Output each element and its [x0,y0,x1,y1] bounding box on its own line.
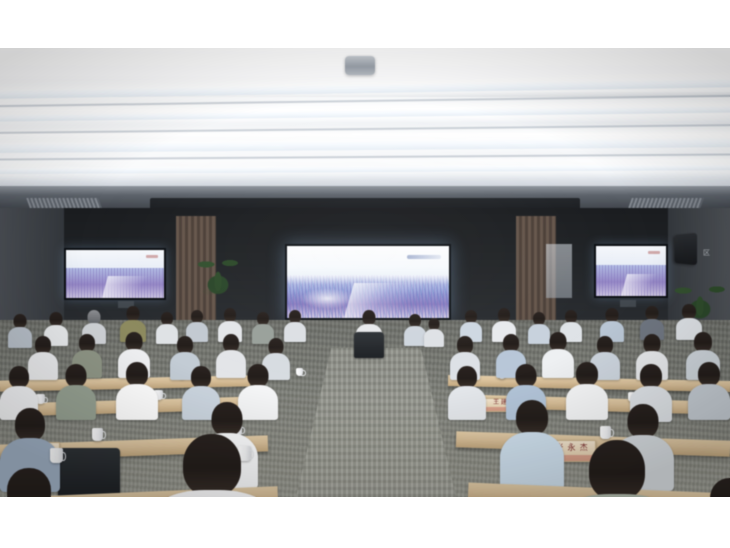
display-highway [621,274,666,297]
attendee-head [50,312,63,326]
attendee-head [576,362,598,386]
potted-plant [198,244,238,312]
attendee [404,314,426,344]
attendee-head [516,400,548,435]
right-led-display[interactable] [594,244,668,298]
air-vent-grille [628,198,704,208]
attendee-torso [556,494,678,497]
mug [296,368,303,376]
attendee-head [212,402,243,436]
attendee-head [14,314,27,328]
attendee [556,440,678,497]
attendee-head [183,434,241,496]
wall-marking-label: 区 [703,248,711,258]
attendee-head [248,364,269,387]
attendee [500,400,564,486]
attendee [0,468,96,497]
wall-id-plate [620,300,636,307]
attendee-head [698,362,720,386]
display-watermark-icon [407,255,441,259]
attendee-head [224,308,236,322]
display-watermark-icon [146,255,158,258]
attendee-head [126,362,148,386]
mug [600,426,611,439]
air-vent-grille [26,198,102,208]
attendee-torso [448,386,486,420]
display-watermark-icon [648,251,660,254]
mug [50,448,63,463]
attendee-head [589,440,645,497]
display-highlight [300,288,355,310]
attendee-head [694,332,712,352]
photo-canvas: 区 [0,0,730,548]
attendee-head [7,468,51,497]
attendee-head [710,478,730,497]
attendee-head [363,310,376,325]
attendee [686,478,730,497]
attendee-head [191,366,211,388]
chair [354,332,384,358]
attendee-head [498,308,510,322]
attendee [150,434,274,497]
wall-speaker-icon [675,233,697,265]
side-wall-panel-left [0,208,64,326]
left-led-display[interactable] [64,248,166,300]
attendee [284,310,306,340]
attendee-head [516,364,537,387]
attendee-torso [116,384,158,420]
main-led-display[interactable] [285,244,451,320]
attendee-head [640,364,662,388]
attendee-torso [566,384,608,420]
attendee-torso [56,385,96,420]
display-highway [102,276,162,298]
attendee-head [628,404,659,438]
mug [92,428,103,441]
attendee-head [9,366,29,388]
attendee-torso [500,432,564,490]
wall-light-panel [546,244,572,298]
attendee [566,362,608,418]
attendee-torso [404,326,426,346]
attendee [688,362,730,418]
ceiling-sensor-icon [345,56,375,75]
attendee-head [606,308,619,322]
attendee [424,318,444,346]
attendee-head [457,366,477,388]
attendee-head [15,408,45,441]
attendee-torso [424,329,444,347]
attendee-head [646,306,659,320]
conference-room-photograph: 区 [0,48,730,497]
attendee [116,362,158,418]
attendee [448,366,486,418]
attendee-head [66,364,87,387]
attendee-head [88,310,101,324]
attendee-torso [150,490,274,497]
attendee-torso [688,384,730,420]
attendee [56,364,96,418]
attendee-head [127,306,140,321]
attendee-head [682,304,696,319]
